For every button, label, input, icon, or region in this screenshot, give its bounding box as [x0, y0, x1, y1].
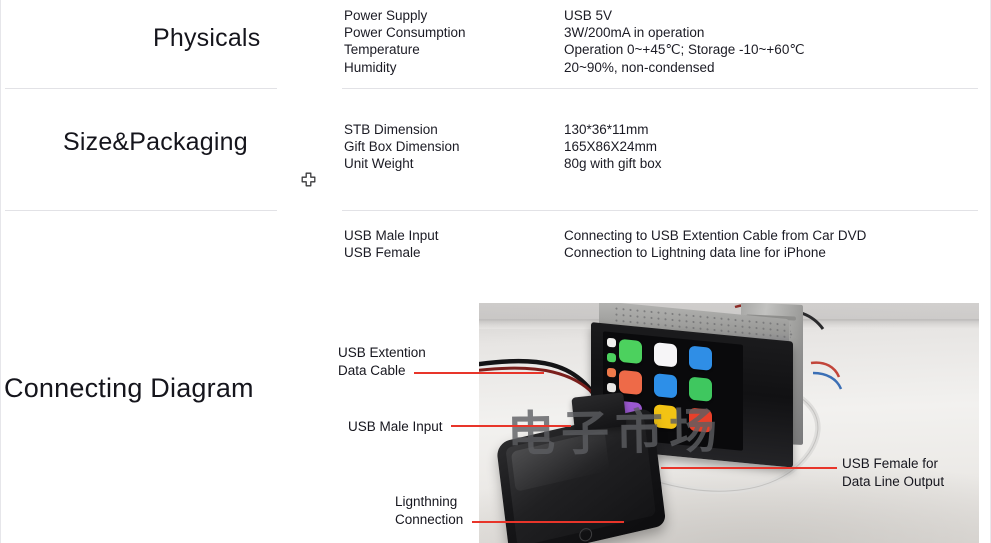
- section-divider-1-left: [5, 88, 277, 89]
- section-title-connecting-diagram: Connecting Diagram: [4, 373, 254, 404]
- music-icon: [654, 342, 677, 367]
- spec-value: USB 5V: [564, 7, 804, 24]
- callout-lightning-connection: Lignthning Connection: [395, 493, 463, 528]
- section-title-physicals: Physicals: [153, 24, 260, 53]
- status-dot-white: [607, 338, 616, 348]
- callout-line: USB Female for: [842, 455, 944, 473]
- spec-values-ports: Connecting to USB Extention Cable from C…: [564, 227, 866, 261]
- phone-icon: [619, 339, 642, 364]
- spec-name: Temperature: [344, 41, 466, 58]
- section-divider-2-right: [342, 210, 978, 211]
- spec-value: 20~90%, non-condensed: [564, 59, 804, 76]
- spec-name: USB Female: [344, 244, 439, 261]
- spec-names-physicals: Power Supply Power Consumption Temperatu…: [344, 7, 466, 76]
- callout-usb-female-data-output: USB Female for Data Line Output: [842, 455, 944, 490]
- now-playing-icon: [654, 404, 677, 429]
- spec-name: Unit Weight: [344, 155, 460, 172]
- spec-name: Power Consumption: [344, 24, 466, 41]
- callout-line: Connection: [395, 511, 463, 529]
- spec-value: Connecting to USB Extention Cable from C…: [564, 227, 866, 244]
- spec-value: 80g with gift box: [564, 155, 662, 172]
- harness-wire-4: [813, 373, 841, 389]
- black-wire: [479, 361, 597, 399]
- callout-line: Lignthning: [395, 493, 463, 511]
- spec-values-size: 130*36*11mm 165X86X24mm 80g with gift bo…: [564, 121, 662, 173]
- iphone-home-button: [579, 527, 593, 543]
- crosshair-cursor-icon: [300, 172, 317, 189]
- spec-name: Gift Box Dimension: [344, 138, 460, 155]
- leader-line-lightning: [472, 521, 624, 523]
- spec-names-size: STB Dimension Gift Box Dimension Unit We…: [344, 121, 460, 173]
- spec-values-physicals: USB 5V 3W/200mA in operation Operation 0…: [564, 7, 804, 76]
- spec-names-ports: USB Male Input USB Female: [344, 227, 439, 261]
- callout-line: Data Line Output: [842, 473, 944, 491]
- section-title-size-packaging: Size&Packaging: [63, 128, 248, 157]
- spec-name: USB Male Input: [344, 227, 439, 244]
- callout-line: USB Male Input: [348, 418, 443, 436]
- podcasts-icon: [619, 370, 642, 395]
- status-dot-green: [607, 353, 616, 363]
- callout-line: USB Extention: [338, 344, 426, 362]
- audio-icon: [654, 373, 677, 398]
- callout-line: Data Cable: [338, 362, 426, 380]
- leader-line-usb-male-input: [451, 425, 571, 427]
- spec-value: 130*36*11mm: [564, 121, 662, 138]
- status-dot-orange: [607, 368, 616, 378]
- spec-name: Power Supply: [344, 7, 466, 24]
- status-dot-grey: [607, 383, 616, 393]
- connecting-diagram-photo: 电子市场: [479, 303, 979, 543]
- spec-name: STB Dimension: [344, 121, 460, 138]
- section-divider-1-right: [342, 88, 978, 89]
- spec-value: 3W/200mA in operation: [564, 24, 804, 41]
- spec-value: Operation 0~+45℃; Storage -10~+60℃: [564, 41, 804, 58]
- callout-usb-male-input: USB Male Input: [348, 418, 443, 436]
- spec-value: 165X86X24mm: [564, 138, 662, 155]
- spec-value: Connection to Lightning data line for iP…: [564, 244, 866, 261]
- section-divider-2-left: [5, 210, 277, 211]
- spec-name: Humidity: [344, 59, 466, 76]
- spec-sheet: Physicals Size&Packaging Connecting Diag…: [0, 0, 991, 543]
- alert-icon: [689, 408, 712, 433]
- leader-line-usb-extention: [414, 372, 544, 374]
- usb-adapter-module: [571, 392, 626, 431]
- leader-line-usb-female: [661, 467, 837, 469]
- callout-usb-extention-data-cable: USB Extention Data Cable: [338, 344, 426, 379]
- messages-icon: [689, 377, 712, 402]
- maps-icon: [689, 346, 712, 371]
